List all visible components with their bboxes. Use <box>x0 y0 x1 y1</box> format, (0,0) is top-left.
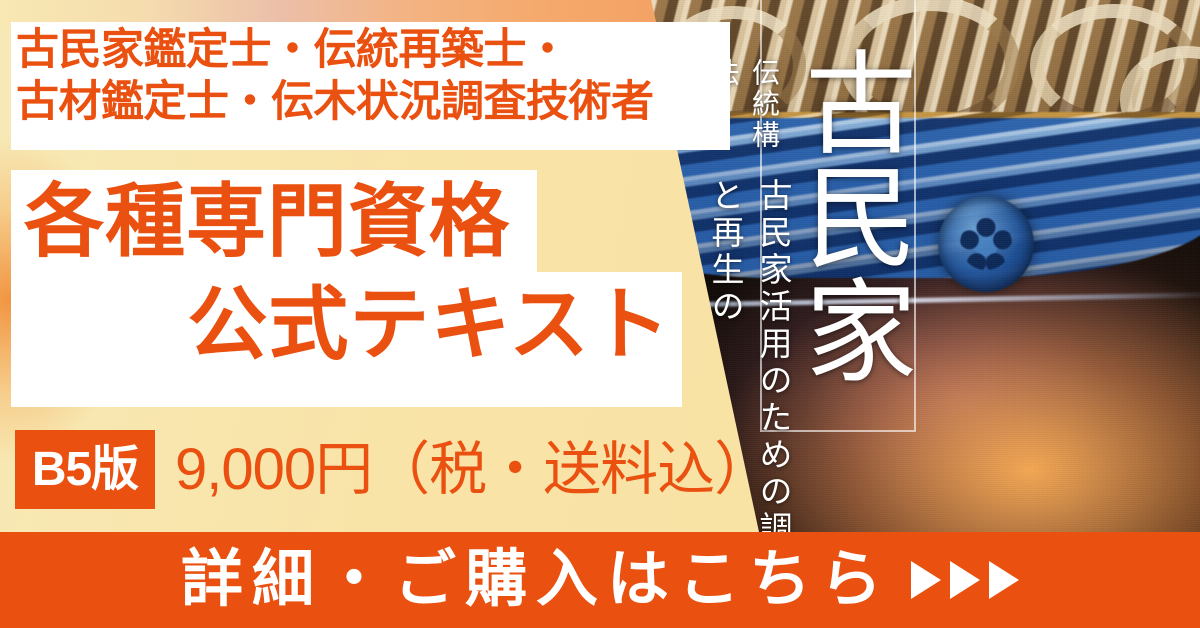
certifications-text: 古民家鑑定士・伝統再築士・ 古材鑑定士・伝木状況調査技術者 <box>16 24 716 129</box>
promo-banner[interactable]: 古民家 伝統構法 古民家活用のための調査と再生の 古民家鑑定士・伝統再築士・ 古… <box>0 0 1200 628</box>
size-badge-label: B5版 <box>32 446 138 494</box>
headline-line-2: 公式テキスト <box>11 285 671 365</box>
size-badge: B5版 <box>15 430 155 509</box>
cta-arrow-group <box>911 561 1019 599</box>
triangle-right-icon <box>950 561 980 599</box>
cta-bar[interactable]: 詳細・ご購入はこちら <box>0 532 1200 628</box>
cta-label: 詳細・ご購入はこちら <box>181 549 891 611</box>
triangle-right-icon <box>911 561 941 599</box>
headline-line-1: 各種専門資格 <box>24 182 510 262</box>
triangle-right-icon <box>989 561 1019 599</box>
price-text: 9,000円（税・送料込） <box>175 434 771 507</box>
